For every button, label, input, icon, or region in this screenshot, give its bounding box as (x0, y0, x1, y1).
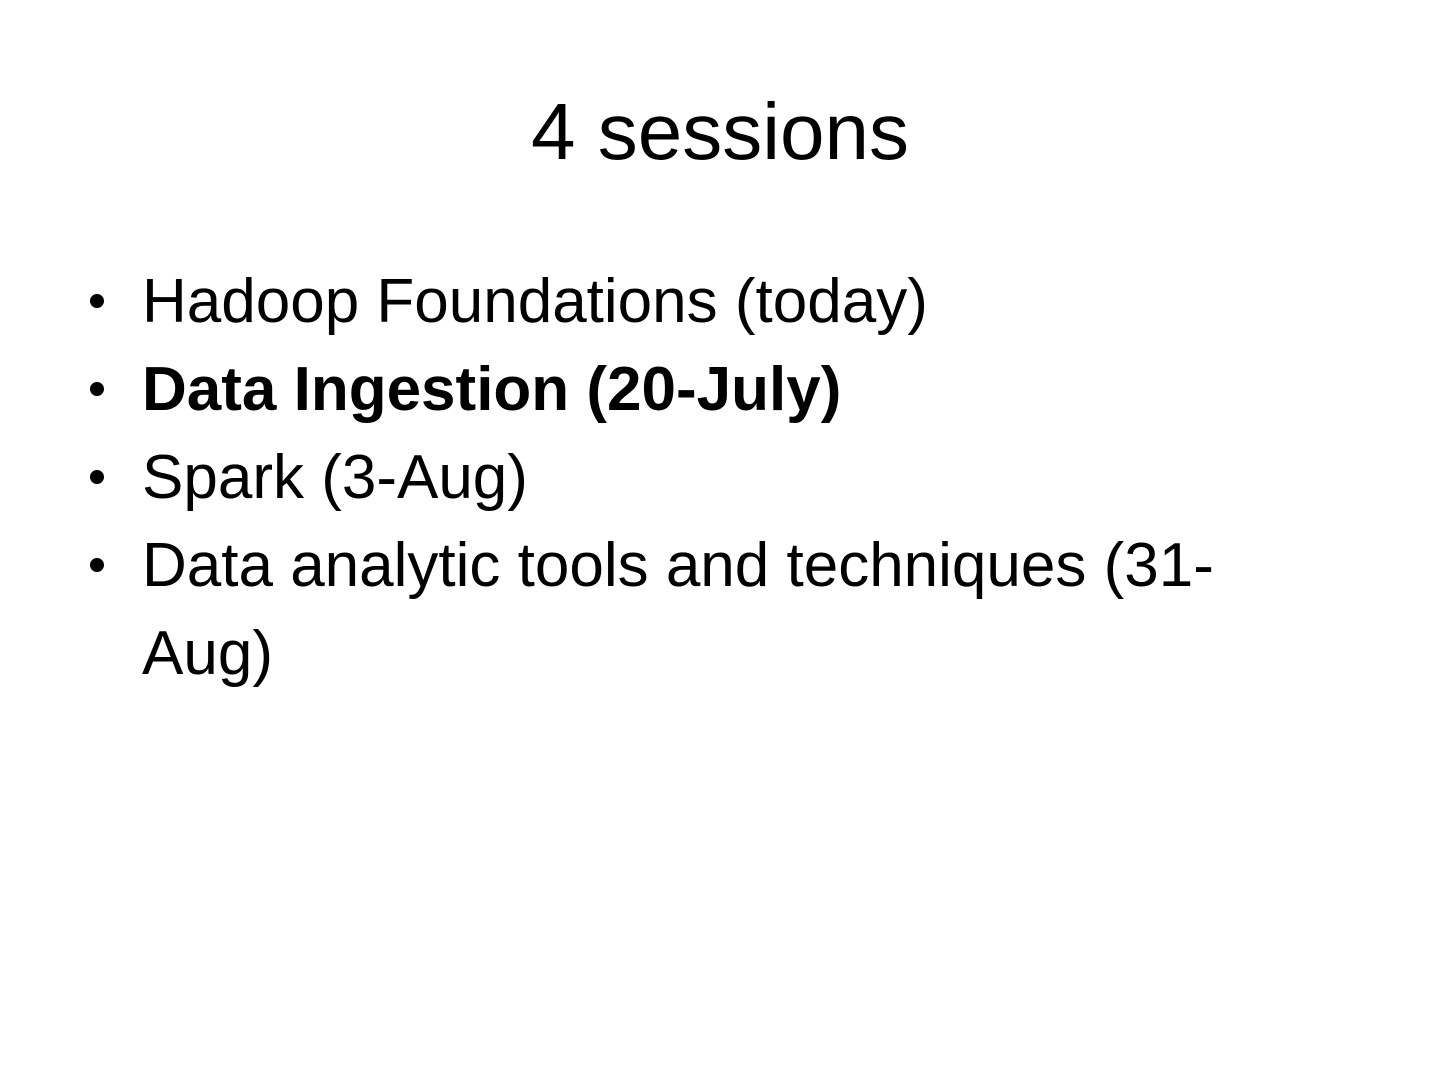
list-item[interactable]: Data analytic tools and techniques (31-A… (80, 522, 1270, 698)
session-list: Hadoop Foundations (today) Data Ingestio… (80, 258, 1270, 698)
list-item-label: Hadoop Foundations (today) (142, 258, 1270, 346)
disc-bullet-icon (90, 382, 104, 396)
list-item[interactable]: Hadoop Foundations (today) (80, 258, 1270, 346)
list-item-label: Spark (3-Aug) (142, 434, 1270, 522)
list-item-label: Data analytic tools and techniques (31-A… (142, 522, 1270, 698)
list-item[interactable]: Spark (3-Aug) (80, 434, 1270, 522)
disc-bullet-icon (90, 470, 104, 484)
disc-bullet-icon (90, 558, 104, 572)
list-item[interactable]: Data Ingestion (20-July) (80, 346, 1270, 434)
disc-bullet-icon (90, 294, 104, 308)
list-item-label: Data Ingestion (20-July) (142, 346, 1270, 434)
page-title: 4 sessions (0, 92, 1440, 172)
slide-canvas: 4 sessions Hadoop Foundations (today) Da… (0, 0, 1440, 1080)
